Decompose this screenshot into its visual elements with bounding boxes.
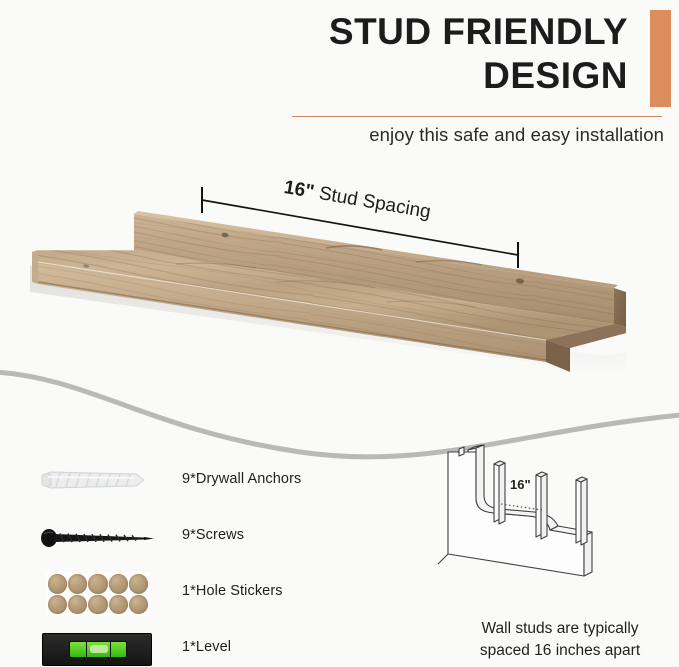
stud-diagram-caption: Wall studs are typically spaced 16 inche… xyxy=(440,618,679,662)
sticker-dot xyxy=(109,574,128,594)
part-row-drywall-anchors: 9*Drywall Anchors xyxy=(34,455,354,509)
sticker-dot xyxy=(68,574,87,594)
level-mark xyxy=(86,642,87,657)
header-divider-rule xyxy=(292,116,662,117)
header-block: STUD FRIENDLY DESIGN xyxy=(292,10,662,98)
part-row-screws: 9*Screws xyxy=(34,511,354,565)
part-label-level: 1*Level xyxy=(182,639,231,655)
stud-caption-line-1: Wall studs are typically xyxy=(440,618,679,640)
level-bubble xyxy=(90,645,108,653)
headline-line-1: STUD FRIENDLY xyxy=(292,10,662,54)
headline-line-2: DESIGN xyxy=(292,54,662,98)
sticker-dot xyxy=(88,595,107,615)
product-infographic: STUD FRIENDLY DESIGN enjoy this safe and… xyxy=(0,0,679,667)
screw-icon xyxy=(34,511,166,565)
wall-stud-diagram: 16" xyxy=(432,442,632,607)
wall-stud-diagram-svg: 16" xyxy=(432,442,632,607)
part-row-level: 1*Level xyxy=(34,623,354,667)
sticker-dot xyxy=(48,574,67,594)
wall-stud xyxy=(576,477,587,545)
level-mark xyxy=(110,642,111,657)
wall-stud xyxy=(494,461,505,524)
wall-stud xyxy=(536,472,547,539)
level-tool-icon xyxy=(34,623,166,667)
part-label-drywall-anchors: 9*Drywall Anchors xyxy=(182,471,301,487)
sticker-sheet xyxy=(46,572,150,616)
included-parts-list: 9*Drywall Anchors xyxy=(34,455,354,667)
drywall-anchor-icon xyxy=(34,455,166,509)
part-row-hole-stickers: 1*Hole Stickers xyxy=(34,567,354,621)
part-label-screws: 9*Screws xyxy=(182,527,244,543)
header-subtitle: enjoy this safe and easy installation xyxy=(292,124,664,146)
sticker-dot xyxy=(88,574,107,594)
sticker-dot xyxy=(129,595,148,615)
stud-caption-line-2: spaced 16 inches apart xyxy=(440,640,679,662)
hole-stickers-icon xyxy=(34,567,166,621)
part-label-hole-stickers: 1*Hole Stickers xyxy=(182,583,283,599)
sticker-dot xyxy=(68,595,87,615)
sticker-dot xyxy=(129,574,148,594)
stud-dimension-label: 16" xyxy=(510,477,531,492)
level-body xyxy=(42,633,152,666)
sticker-dot xyxy=(109,595,128,615)
orange-accent-bar xyxy=(650,10,671,107)
sticker-dot xyxy=(48,595,67,615)
level-vial xyxy=(69,641,127,658)
